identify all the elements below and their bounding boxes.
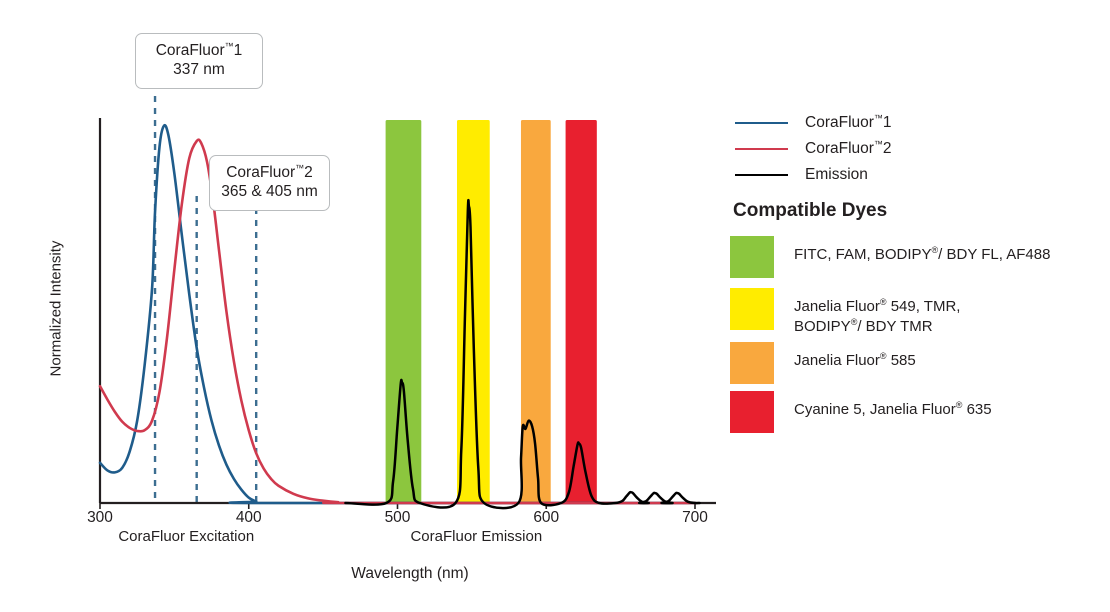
legend-label-base: Emission: [805, 166, 868, 183]
green-band: [386, 120, 422, 503]
dye-label: FITC, FAM, BODIPY®/ BDY FL, AF488: [794, 236, 1050, 265]
dye-row-1[interactable]: FITC, FAM, BODIPY®/ BDY FL, AF488: [730, 236, 1050, 278]
legend-item-corafluor1[interactable]: CoraFluor™1: [735, 113, 892, 133]
x-tick-label-700: 700: [665, 509, 725, 527]
emission-filter-bands: [386, 120, 597, 503]
dye-label: Cyanine 5, Janelia Fluor® 635: [794, 391, 992, 420]
registered-symbol: ®: [880, 351, 887, 361]
dye-label: Janelia Fluor® 549, TMR,BODIPY®/ BDY TMR: [794, 288, 960, 337]
dye-label-text-2: / BDY FL, AF488: [938, 246, 1050, 263]
figure-root: CoraFluor™1 337 nm CoraFluor™2 365 & 405…: [0, 0, 1110, 612]
legend-line-swatch: [735, 174, 788, 176]
dye-label-text: Cyanine 5, Janelia Fluor: [794, 401, 956, 418]
y-axis-title: Normalized Intensity: [48, 229, 65, 389]
legend-item-label: CoraFluor™2: [805, 140, 892, 158]
registered-symbol: ®: [880, 297, 887, 307]
compatible-dyes-heading: Compatible Dyes: [733, 200, 887, 222]
dye-label-line2-text: BODIPY: [794, 318, 851, 335]
trademark-symbol: ™: [874, 139, 883, 149]
trademark-symbol: ™: [874, 113, 883, 123]
x-tick-label-600: 600: [516, 509, 576, 527]
dye-label-text: Janelia Fluor: [794, 298, 880, 315]
spectra-chart: CoraFluor™1 337 nm CoraFluor™2 365 & 405…: [0, 0, 730, 612]
dye-label-text-2: 585: [887, 352, 916, 369]
dye-row-3[interactable]: Janelia Fluor® 585: [730, 342, 916, 384]
axis-section-excitation: CoraFluor Excitation: [76, 528, 296, 545]
callout-cf2-name: CoraFluor™2: [220, 163, 319, 182]
dye-label-text-2: 635: [962, 401, 991, 418]
callout-cf1-value: 337 nm: [146, 60, 252, 79]
legend-item-emission[interactable]: Emission: [735, 165, 868, 185]
callout-corafluor2: CoraFluor™2 365 & 405 nm: [209, 155, 330, 211]
dye-label-line2-text-2: / BDY TMR: [857, 318, 932, 335]
callout-cf2-value: 365 & 405 nm: [220, 182, 319, 201]
x-tick-label-400: 400: [219, 509, 279, 527]
x-tick-label-300: 300: [70, 509, 130, 527]
callout-cf1-name: CoraFluor™1: [146, 41, 252, 60]
dye-color-swatch: [730, 288, 774, 330]
x-tick-label-500: 500: [368, 509, 428, 527]
legend-item-label: Emission: [805, 166, 868, 184]
legend-line-swatch: [735, 122, 788, 124]
legend-panel: CoraFluor™1CoraFluor™2Emission Compatibl…: [730, 0, 1110, 612]
dye-row-2[interactable]: Janelia Fluor® 549, TMR,BODIPY®/ BDY TMR: [730, 288, 960, 337]
dye-label-line2: BODIPY®/ BDY TMR: [794, 317, 960, 337]
dye-row-4[interactable]: Cyanine 5, Janelia Fluor® 635: [730, 391, 992, 433]
legend-label-base: CoraFluor: [805, 140, 874, 157]
dye-color-swatch: [730, 236, 774, 278]
dye-label-text: FITC, FAM, BODIPY: [794, 246, 932, 263]
legend-label-index: 2: [883, 140, 892, 157]
dye-label-text: Janelia Fluor: [794, 352, 880, 369]
dye-label-text-2: 549, TMR,: [887, 298, 961, 315]
x-axis-title: Wavelength (nm): [280, 565, 540, 583]
callout-corafluor1: CoraFluor™1 337 nm: [135, 33, 263, 89]
legend-line-swatch: [735, 148, 788, 150]
legend-item-label: CoraFluor™1: [805, 114, 892, 132]
axis-section-emission: CoraFluor Emission: [366, 528, 586, 545]
legend-label-base: CoraFluor: [805, 114, 874, 131]
dye-label: Janelia Fluor® 585: [794, 342, 916, 371]
dye-color-swatch: [730, 391, 774, 433]
legend-item-corafluor2[interactable]: CoraFluor™2: [735, 139, 892, 159]
dye-color-swatch: [730, 342, 774, 384]
legend-label-index: 1: [883, 114, 892, 131]
